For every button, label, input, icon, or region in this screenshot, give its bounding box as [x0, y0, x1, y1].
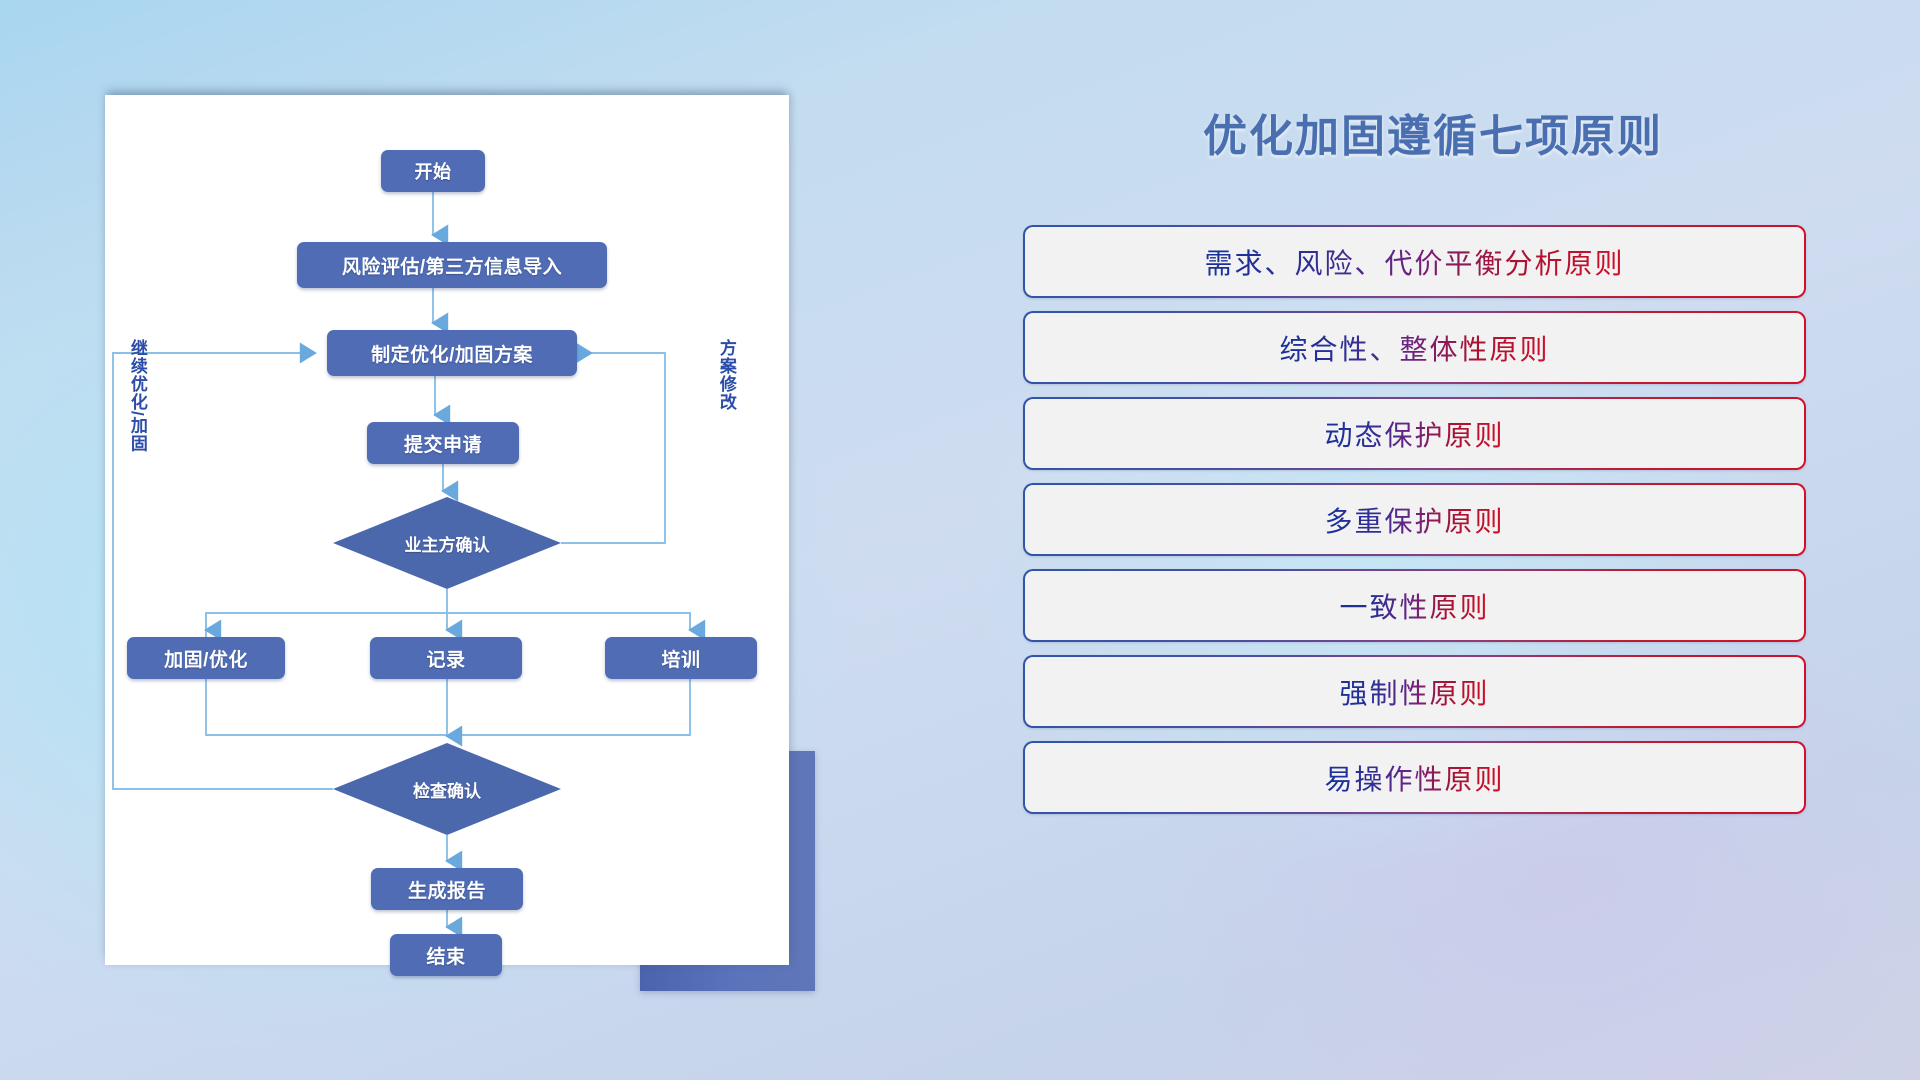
flow-node-label: 检查确认 [413, 777, 481, 802]
principle-item[interactable]: 需求、风险、代价平衡分析原则 [1023, 225, 1806, 298]
flow-edge-label-plan-revision: 方案修改 [717, 339, 735, 411]
flow-node-submit-application[interactable]: 提交申请 [367, 422, 519, 464]
flow-node-record[interactable]: 记录 [370, 637, 522, 679]
principle-item-inner: 一致性原则 [1025, 571, 1804, 640]
flow-node-start[interactable]: 开始 [381, 150, 485, 192]
principle-item-inner: 需求、风险、代价平衡分析原则 [1025, 227, 1804, 296]
flow-node-label: 开始 [415, 158, 452, 184]
flowchart-card: 开始 风险评估/第三方信息导入 制定优化/加固方案 提交申请 业主方确认 加固/… [105, 95, 789, 965]
principle-label: 多重保护原则 [1324, 500, 1504, 540]
principle-label: 需求、风险、代价平衡分析原则 [1204, 242, 1624, 282]
principle-label: 强制性原则 [1339, 672, 1489, 712]
principle-item[interactable]: 多重保护原则 [1023, 483, 1806, 556]
slide-canvas: 开始 风险评估/第三方信息导入 制定优化/加固方案 提交申请 业主方确认 加固/… [0, 0, 1920, 1080]
flow-node-reinforce-optimize[interactable]: 加固/优化 [127, 637, 285, 679]
principle-item[interactable]: 一致性原则 [1023, 569, 1806, 642]
principle-label: 动态保护原则 [1324, 414, 1504, 454]
principle-item-inner: 综合性、整体性原则 [1025, 313, 1804, 382]
principle-item-inner: 易操作性原则 [1025, 743, 1804, 812]
flow-node-make-plan[interactable]: 制定优化/加固方案 [327, 330, 577, 376]
flow-node-risk-assessment[interactable]: 风险评估/第三方信息导入 [297, 242, 607, 288]
flow-node-label: 加固/优化 [164, 645, 248, 672]
flow-node-label: 风险评估/第三方信息导入 [342, 252, 562, 279]
principles-list: 需求、风险、代价平衡分析原则 综合性、整体性原则 动态保护原则 多重保护原则 [1023, 225, 1806, 827]
principle-label: 一致性原则 [1339, 586, 1489, 626]
flow-node-end[interactable]: 结束 [390, 934, 502, 976]
principle-label: 综合性、整体性原则 [1279, 328, 1549, 368]
principle-item[interactable]: 动态保护原则 [1023, 397, 1806, 470]
flow-node-label: 结束 [426, 942, 465, 969]
flow-node-label: 业主方确认 [405, 531, 490, 556]
panel-title: 优化加固遵循七项原则 [1026, 100, 1840, 164]
flow-node-label: 培训 [661, 645, 700, 672]
principle-item[interactable]: 强制性原则 [1023, 655, 1806, 728]
flow-node-label: 生成报告 [408, 876, 486, 903]
flow-edge-label-continue-optimize: 继续优化/加固 [128, 339, 146, 453]
flow-node-generate-report[interactable]: 生成报告 [371, 868, 523, 910]
principle-item-inner: 动态保护原则 [1025, 399, 1804, 468]
principles-panel: 优化加固遵循七项原则 需求、风险、代价平衡分析原则 综合性、整体性原则 动态保护… [1010, 100, 1840, 1000]
flow-node-training[interactable]: 培训 [605, 637, 757, 679]
principle-item[interactable]: 综合性、整体性原则 [1023, 311, 1806, 384]
principle-label: 易操作性原则 [1324, 758, 1504, 798]
principle-item-inner: 多重保护原则 [1025, 485, 1804, 554]
flow-node-label: 提交申请 [404, 430, 482, 457]
principle-item[interactable]: 易操作性原则 [1023, 741, 1806, 814]
flow-node-label: 制定优化/加固方案 [371, 340, 533, 367]
principle-item-inner: 强制性原则 [1025, 657, 1804, 726]
flow-node-label: 记录 [426, 645, 465, 672]
